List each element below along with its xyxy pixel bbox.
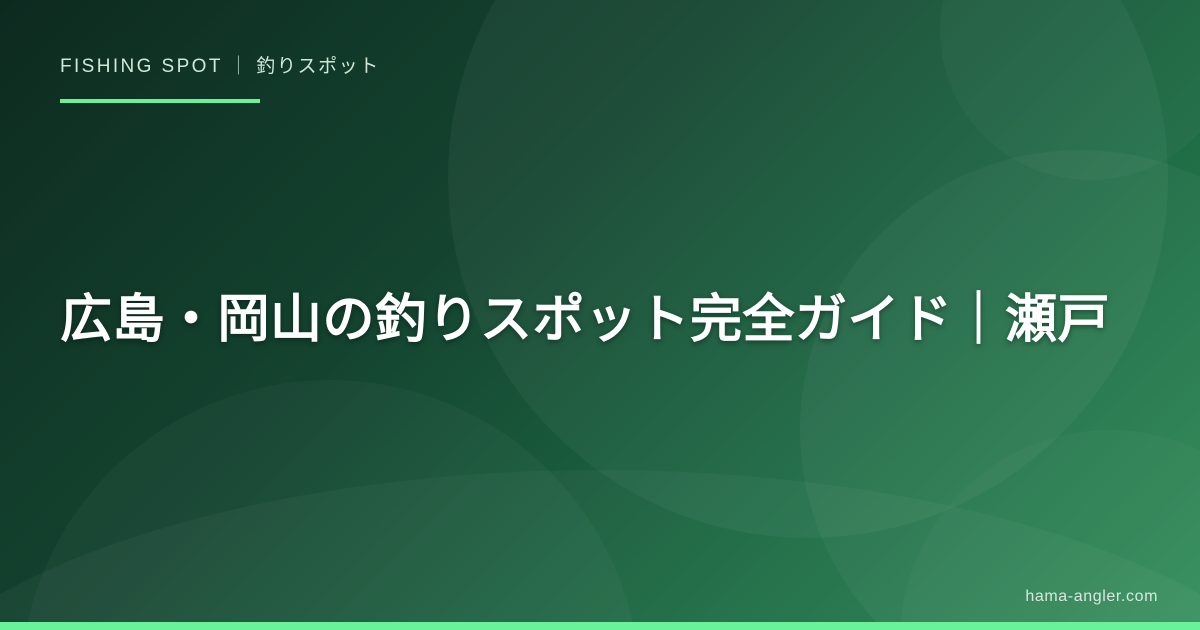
eyebrow-label-en: FISHING SPOT [60, 56, 223, 77]
eyebrow-label-jp: 釣りスポット [256, 56, 380, 77]
card-content: FISHING SPOT｜釣りスポット 広島・岡山の釣りスポット完全ガイド｜瀬戸… [0, 0, 1200, 630]
eyebrow-underline-rule [60, 99, 260, 103]
eyebrow-text: FISHING SPOT｜釣りスポット [60, 56, 380, 79]
og-banner-card: FISHING SPOT｜釣りスポット 広島・岡山の釣りスポット完全ガイド｜瀬戸… [0, 0, 1200, 630]
bottom-accent-bar [0, 622, 1200, 630]
eyebrow-block: FISHING SPOT｜釣りスポット [60, 56, 380, 103]
page-title: 広島・岡山の釣りスポット完全ガイド｜瀬戸 [60, 287, 1150, 354]
eyebrow-separator: ｜ [223, 56, 256, 79]
site-url-label: hama-angler.com [1025, 588, 1158, 606]
